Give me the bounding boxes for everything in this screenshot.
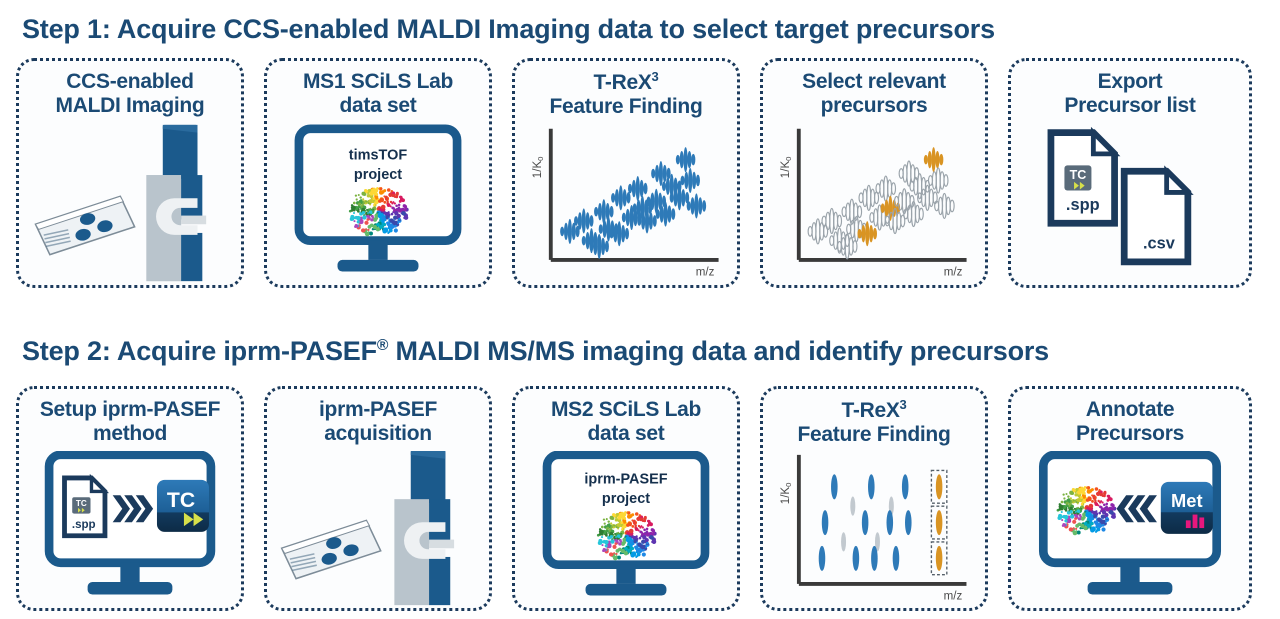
card-title: T-ReX3 Feature Finding [763,389,985,446]
feature-finding-plot-ms2: 1/K0 m/z [763,451,985,608]
card-title: MS1 SCiLS Lab data set [267,61,489,117]
step-1-card-row: CCS-enabled MALDI Imaging [0,58,1280,288]
card-title-line-2: Precursor list [1011,94,1249,118]
screen-label-line-1: iprm-PASEF [584,472,667,488]
card-title: Annotate Precursors [1011,389,1249,445]
csv-file-icon: .csv [1124,171,1188,262]
card-title-line-1: Export [1011,70,1249,94]
card-title-line-2: data set [267,94,489,118]
monitor-spp-to-tc-illustration: TC .spp [19,451,241,608]
metaboscape-app-icon: Met [1161,482,1213,534]
monitor-cluster-to-met-illustration: Met [1011,451,1249,608]
card-export-precursor-list[interactable]: Export Precursor list TC .spp [1008,58,1252,288]
workflow-diagram: Step 1: Acquire CCS-enabled MALDI Imagin… [0,0,1280,619]
card-trex3-feature-finding-ms2[interactable]: T-ReX3 Feature Finding 1/K0 m/z [760,386,988,611]
card-title-line-2: Feature Finding [763,423,985,447]
card-iprm-pasef-acquisition[interactable]: iprm-PASEF acquisition [264,386,492,611]
card-trex3-feature-finding-ms1[interactable]: T-ReX3 Feature Finding 1/K0 m/z [512,58,740,288]
maldi-slide-icon [280,519,383,580]
step-2-card-row: Setup iprm-PASEF method TC [0,386,1280,611]
tc-badge-label: TC [76,499,87,508]
registered-icon: ® [377,337,388,354]
instrument-icon [146,125,206,281]
card-title: Select relevant precursors [763,61,985,117]
card-title: Setup iprm-PASEF method [19,389,241,445]
maldi-instrument-illustration [267,451,489,608]
card-title-text: T-ReX [594,71,652,94]
card-title: MS2 SCiLS Lab data set [515,389,737,445]
feature-points [808,147,954,259]
step-1-heading: Step 1: Acquire CCS-enabled MALDI Imagin… [22,14,995,45]
card-title-line-2: acquisition [267,422,489,446]
card-title-line-1: MS2 SCiLS Lab [515,398,737,422]
y-axis-label: 1/K0 [780,483,793,505]
card-ms1-scils-lab-data-set[interactable]: MS1 SCiLS Lab data set timsTOF project [264,58,492,288]
spp-extension-label: .spp [72,519,96,531]
card-title-line-1: Setup iprm-PASEF [19,398,241,422]
monitor-illustration: timsTOF project [267,123,489,285]
card-ccs-enabled-maldi-imaging[interactable]: CCS-enabled MALDI Imaging [16,58,244,288]
met-app-label: Met [1171,490,1203,511]
y-axis-label: 1/K0 [532,157,545,179]
instrument-icon [394,451,454,605]
export-file-icons: TC .spp .csv [1011,123,1249,285]
screen-label-line-1: timsTOF [349,148,408,164]
card-title-line-2: precursors [763,94,985,118]
card-title-line-1: Annotate [1011,398,1249,422]
card-title-line-2: method [19,422,241,446]
step-2-heading: Step 2: Acquire iprm-PASEF® MALDI MS/MS … [22,336,1049,367]
card-annotate-precursors[interactable]: Annotate Precursors [1008,386,1252,611]
feature-points [560,147,706,259]
maldi-instrument-illustration [19,123,241,285]
card-title-line-2: MALDI Imaging [19,94,241,118]
csv-extension-label: .csv [1143,234,1176,252]
tc-badge-label: TC [1070,168,1087,182]
screen-label-line-2: project [602,491,650,507]
timscontrol-app-icon: TC [157,480,209,532]
card-title-line-2: Feature Finding [515,95,737,119]
card-setup-iprm-pasef-method[interactable]: Setup iprm-PASEF method TC [16,386,244,611]
card-title: iprm-PASEF acquisition [267,389,489,445]
card-select-relevant-precursors[interactable]: Select relevant precursors 1/K0 m/z [760,58,988,288]
card-title-line-1: CCS-enabled [19,70,241,94]
superscript-3: 3 [900,397,907,412]
card-title-line-1: T-ReX3 [515,70,737,95]
screen-label-line-2: project [354,167,402,183]
precursor-selection-plot: 1/K0 m/z [763,123,985,285]
card-title-line-1: iprm-PASEF [267,398,489,422]
spp-file-icon: TC .spp [65,478,105,536]
tc-app-label: TC [167,489,195,512]
card-title: T-ReX3 Feature Finding [515,61,737,118]
x-axis-label: m/z [696,266,715,278]
maldi-slide-icon [33,195,136,257]
x-axis-label: m/z [944,590,963,602]
feature-finding-plot-ms1: 1/K0 m/z [515,123,737,285]
superscript-3: 3 [652,69,659,84]
card-title-line-1: MS1 SCiLS Lab [267,70,489,94]
card-title-line-2: Precursors [1011,422,1249,446]
plot-axes [799,129,967,260]
card-title-line-2: data set [515,422,737,446]
card-title-line-1: Select relevant [763,70,985,94]
x-axis-label: m/z [944,266,963,278]
card-title: CCS-enabled MALDI Imaging [19,61,241,117]
card-title-line-1: T-ReX3 [763,398,985,423]
step-2-heading-pre: Step 2: Acquire iprm-PASEF [22,336,377,366]
monitor-illustration: iprm-PASEF project [515,451,737,608]
feature-points [819,470,947,574]
card-title-text: T-ReX [842,399,900,422]
y-axis-label: 1/K0 [780,157,793,179]
step-2-heading-post: MALDI MS/MS imaging data and identify pr… [388,336,1049,366]
card-ms2-scils-lab-data-set[interactable]: MS2 SCiLS Lab data set iprm-PASEF projec… [512,386,740,611]
card-title: Export Precursor list [1011,61,1249,117]
spp-extension-label: .spp [1066,196,1100,214]
spp-file-icon: TC .spp [1051,133,1115,224]
